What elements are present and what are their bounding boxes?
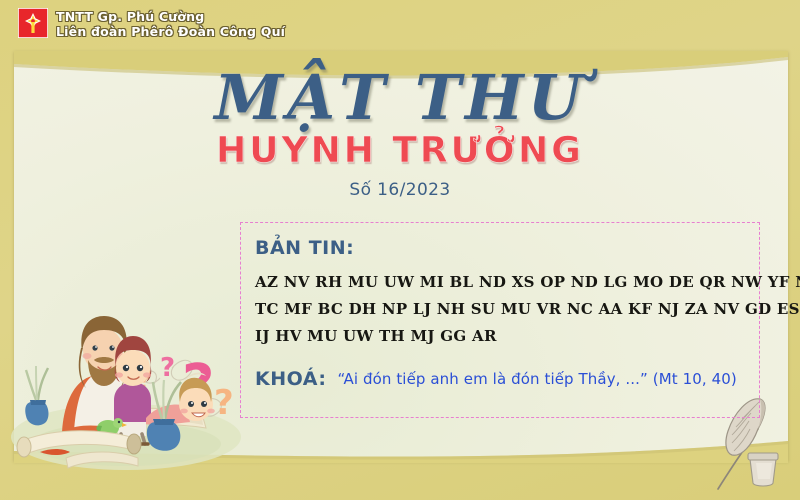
cipher-line: TC MF BC DH NP LJ NH SU MU VR NC AA KF N… [255,296,747,323]
key-quote: “Ai đón tiếp anh em là đón tiếp Thầy, ..… [338,370,737,388]
org-header: TNTT Gp. Phú Cường Liên đoàn Phêrô Đoàn … [18,8,285,39]
cipher-line: AZ NV RH MU UW MI BL ND XS OP ND LG MO D… [255,269,747,296]
key-label: KHOÁ: [255,368,326,390]
bulletin-label: BẢN TIN: [255,237,354,259]
jesus-with-children-scrolls-illustration: ? ? ? ? [6,272,256,472]
bulletin-box: BẢN TIN: AZ NV RH MU UW MI BL ND XS OP N… [240,222,760,418]
tntt-flower-emblem-icon [18,8,48,38]
cipher-line: IJ HV MU UW TH MJ GG AR [255,323,747,350]
page-title: MẬT THƯ [0,62,800,134]
cipher-text-block: AZ NV RH MU UW MI BL ND XS OP ND LG MO D… [255,269,747,350]
org-line-1: TNTT Gp. Phú Cường [56,9,285,24]
question-mark-icon: ? [214,383,234,423]
question-mark-icon: ? [160,353,175,383]
child-figure-girl [114,336,151,444]
key-row: KHOÁ: “Ai đón tiếp anh em là đón tiếp Th… [255,368,747,390]
issue-number: Số 16/2023 [0,180,800,200]
pot-left-icon [25,366,48,425]
page-subtitle: HUYNH TRƯỞNG [0,130,800,172]
org-line-2: Liên đoàn Phêrô Đoàn Công Quí [56,24,285,39]
org-name-block: TNTT Gp. Phú Cường Liên đoàn Phêrô Đoàn … [56,8,285,39]
poster-canvas: TNTT Gp. Phú Cường Liên đoàn Phêrô Đoàn … [0,0,800,500]
title-block: MẬT THƯ HUYNH TRƯỞNG Số 16/2023 [0,62,800,200]
